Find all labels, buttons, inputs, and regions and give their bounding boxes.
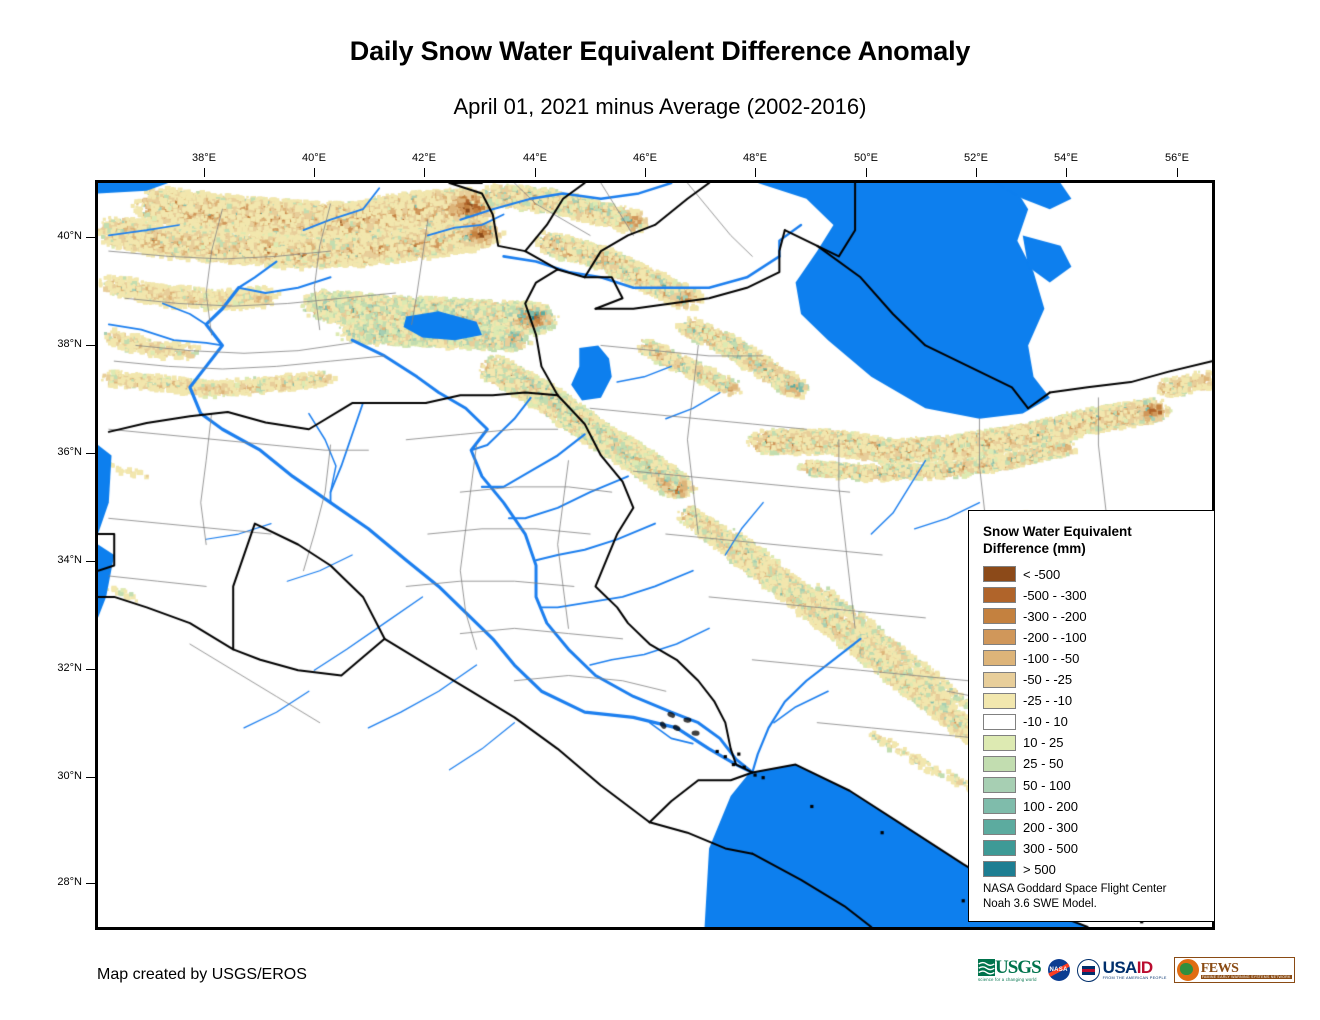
usaid-wordmark-id: ID <box>1137 958 1153 977</box>
lon-tick <box>1066 168 1067 177</box>
legend-row: -300 - -200 <box>983 606 1214 627</box>
lat-tick <box>86 237 95 238</box>
legend-note-line1: NASA Goddard Space Flight Center <box>983 882 1166 898</box>
lon-tick <box>1177 168 1178 177</box>
lon-tick <box>204 168 205 177</box>
lat-label: 38°N <box>22 338 82 350</box>
lat-tick <box>86 777 95 778</box>
legend-label: -500 - -300 <box>1023 588 1087 603</box>
lon-label: 38°E <box>174 152 234 164</box>
legend-swatch <box>983 566 1016 582</box>
legend-row: 100 - 200 <box>983 796 1214 817</box>
legend-row: -200 - -100 <box>983 627 1214 648</box>
page-title: Daily Snow Water Equivalent Difference A… <box>0 36 1320 67</box>
legend-swatch <box>983 735 1016 751</box>
lon-tick <box>645 168 646 177</box>
usaid-wordmark: USAID <box>1103 960 1167 976</box>
legend-swatch <box>983 672 1016 688</box>
lat-tick <box>86 453 95 454</box>
legend-row: -25 - -10 <box>983 690 1214 711</box>
legend-label: -300 - -200 <box>1023 609 1087 624</box>
map-credit: Map created by USGS/EROS <box>97 966 307 984</box>
lon-label: 54°E <box>1036 152 1096 164</box>
legend-swatch <box>983 693 1016 709</box>
legend-label: < -500 <box>1023 567 1060 582</box>
lon-label: 44°E <box>505 152 565 164</box>
page-subtitle: April 01, 2021 minus Average (2002-2016) <box>0 94 1320 120</box>
lat-label: 32°N <box>22 662 82 674</box>
legend-title-line1: Snow Water Equivalent <box>983 523 1193 540</box>
legend-swatch <box>983 861 1016 877</box>
legend-label: 100 - 200 <box>1023 799 1078 814</box>
map-legend: Snow Water Equivalent Difference (mm) < … <box>968 510 1215 922</box>
legend-label: 300 - 500 <box>1023 841 1078 856</box>
lat-tick <box>86 669 95 670</box>
agency-logos: USGS science for a changing world NASA U… <box>978 957 1295 983</box>
lat-tick <box>86 883 95 884</box>
lat-tick <box>86 345 95 346</box>
legend-row: -100 - -50 <box>983 648 1214 669</box>
legend-label: 200 - 300 <box>1023 820 1078 835</box>
lon-tick <box>424 168 425 177</box>
lon-tick <box>976 168 977 177</box>
lon-label: 42°E <box>394 152 454 164</box>
legend-swatch <box>983 629 1016 645</box>
lon-tick <box>755 168 756 177</box>
lat-label: 40°N <box>22 230 82 242</box>
usaid-tagline: FROM THE AMERICAN PEOPLE <box>1103 976 1167 980</box>
legend-label: -25 - -10 <box>1023 693 1072 708</box>
nasa-meatball-icon: NASA <box>1048 959 1070 981</box>
legend-swatch <box>983 714 1016 730</box>
legend-row: 300 - 500 <box>983 838 1214 859</box>
legend-swatch <box>983 587 1016 603</box>
lon-tick <box>314 168 315 177</box>
fews-tagline: FAMINE EARLY WARNING SYSTEMS NETWORK <box>1201 975 1292 979</box>
legend-label: 25 - 50 <box>1023 756 1063 771</box>
legend-label: -200 - -100 <box>1023 630 1087 645</box>
nasa-logo: NASA <box>1048 959 1070 981</box>
lon-tick <box>866 168 867 177</box>
lat-label: 34°N <box>22 554 82 566</box>
fews-wordmark: FEWS <box>1201 962 1292 975</box>
usaid-wordmark-usa: USA <box>1103 958 1137 977</box>
lon-label: 50°E <box>836 152 896 164</box>
legend-swatch <box>983 756 1016 772</box>
legend-title-line2: Difference (mm) <box>983 540 1193 557</box>
legend-row: 10 - 25 <box>983 732 1214 753</box>
lat-label: 36°N <box>22 446 82 458</box>
legend-swatch <box>983 798 1016 814</box>
legend-row: > 500 <box>983 859 1214 880</box>
legend-row: -10 - 10 <box>983 711 1214 732</box>
legend-label: > 500 <box>1023 862 1056 877</box>
fews-globe-icon <box>1177 959 1199 981</box>
legend-row: < -500 <box>983 564 1214 585</box>
usgs-logo: USGS science for a changing world <box>978 959 1041 982</box>
legend-swatch <box>983 840 1016 856</box>
usgs-wordmark: USGS <box>995 959 1041 976</box>
legend-note-line2: Noah 3.6 SWE Model. <box>983 897 1166 913</box>
legend-row: -500 - -300 <box>983 585 1214 606</box>
legend-swatch <box>983 608 1016 624</box>
usgs-tagline: science for a changing world <box>978 977 1037 982</box>
legend-row: -50 - -25 <box>983 669 1214 690</box>
legend-label: 10 - 25 <box>1023 735 1063 750</box>
legend-row: 200 - 300 <box>983 817 1214 838</box>
lon-label: 52°E <box>946 152 1006 164</box>
legend-swatch <box>983 819 1016 835</box>
lon-label: 40°E <box>284 152 344 164</box>
legend-label: -50 - -25 <box>1023 672 1072 687</box>
legend-row: 25 - 50 <box>983 753 1214 774</box>
legend-row: 50 - 100 <box>983 774 1214 795</box>
lat-label: 28°N <box>22 876 82 888</box>
usaid-logo: USAID FROM THE AMERICAN PEOPLE <box>1077 959 1167 982</box>
lon-label: 56°E <box>1147 152 1207 164</box>
lon-label: 48°E <box>725 152 785 164</box>
legend-note: NASA Goddard Space Flight Center Noah 3.… <box>983 882 1166 913</box>
legend-label: 50 - 100 <box>1023 778 1071 793</box>
lat-tick <box>86 561 95 562</box>
legend-class-list: < -500-500 - -300-300 - -200-200 - -100-… <box>969 564 1214 880</box>
legend-label: -10 - 10 <box>1023 714 1068 729</box>
legend-label: -100 - -50 <box>1023 651 1079 666</box>
nasa-wordmark: NASA <box>1050 967 1068 973</box>
lon-label: 46°E <box>615 152 675 164</box>
legend-title: Snow Water Equivalent Difference (mm) <box>983 523 1193 558</box>
lon-tick <box>535 168 536 177</box>
fewsnet-logo: FEWS FAMINE EARLY WARNING SYSTEMS NETWOR… <box>1174 957 1295 983</box>
usaid-seal-icon <box>1077 959 1100 982</box>
usgs-wave-icon <box>978 959 995 976</box>
legend-swatch <box>983 650 1016 666</box>
legend-swatch <box>983 777 1016 793</box>
lat-label: 30°N <box>22 770 82 782</box>
